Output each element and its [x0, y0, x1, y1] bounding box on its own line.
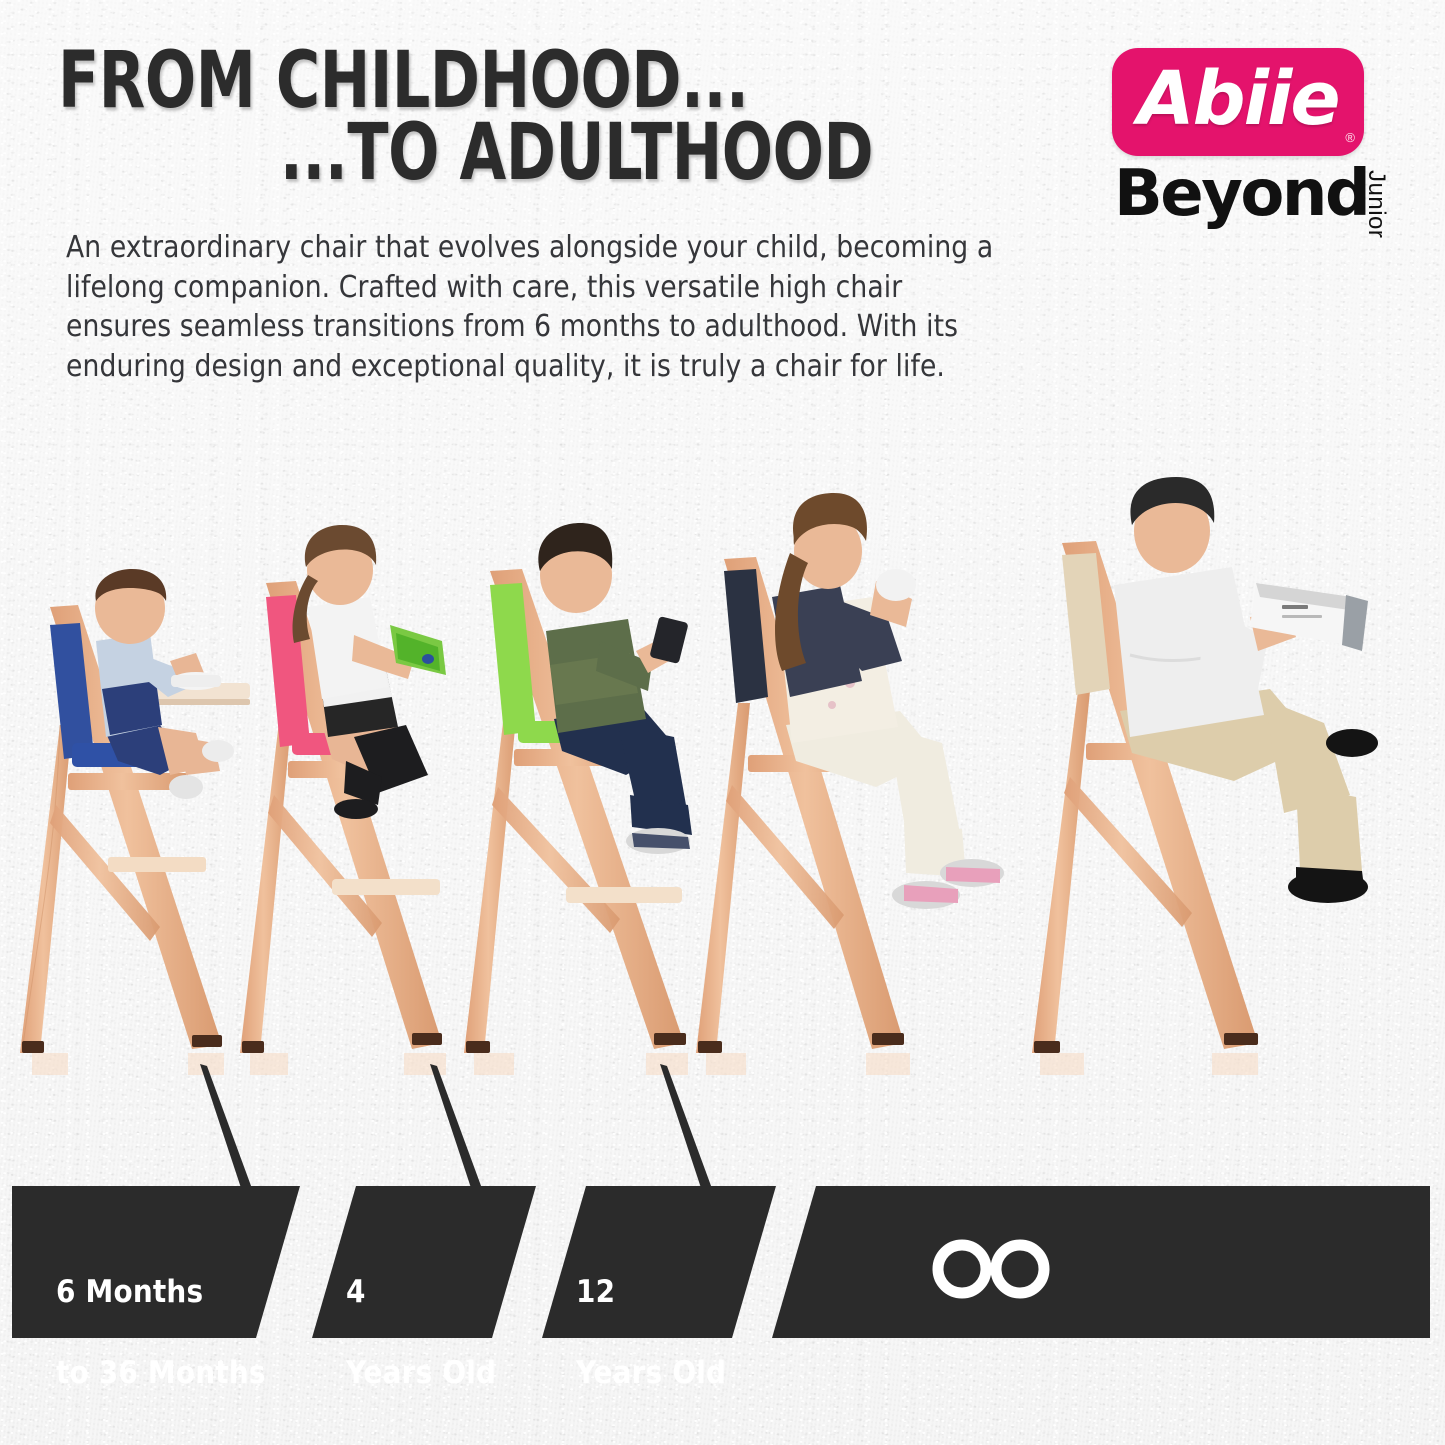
- brand-logo-pill: Abiie ®: [1112, 48, 1364, 156]
- timeline-connectors: [0, 1060, 1445, 1195]
- brand-name: Abiie: [1137, 62, 1338, 136]
- infinity-icon: [928, 1238, 1060, 1300]
- stage-figure-man: [1020, 475, 1440, 1075]
- connector-wedge-3: [660, 1064, 714, 1194]
- headline-line-2: ...TO ADULTHOOD: [58, 118, 841, 190]
- connector-wedge-2: [430, 1064, 484, 1194]
- connector-wedge-1: [200, 1064, 254, 1194]
- man-chair-illustration: [1020, 475, 1440, 1075]
- product-edition: Junior: [1362, 170, 1390, 238]
- timeline-label-girl-line1: 4: [346, 1274, 366, 1310]
- stage-figure-baby: [10, 475, 260, 1075]
- stage-figure-woman: [690, 475, 1030, 1075]
- headline-block: FROM CHILDHOOD... ...TO ADULTHOOD: [58, 46, 968, 190]
- product-name: Beyond: [1114, 162, 1368, 226]
- infographic-poster: FROM CHILDHOOD... ...TO ADULTHOOD An ext…: [0, 0, 1445, 1445]
- chair-progression-stage: [0, 455, 1445, 1075]
- age-timeline-banner: 6 Months to 36 Months 4 Years Old 12 Yea…: [12, 1186, 1430, 1338]
- registered-trademark-icon: ®: [1345, 130, 1355, 145]
- timeline-label-boy-line2: Years Old: [576, 1355, 726, 1391]
- timeline-label-baby-line2: to 36 Months: [56, 1355, 266, 1391]
- intro-paragraph: An extraordinary chair that evolves alon…: [66, 228, 1012, 387]
- timeline-label-girl-line2: Years Old: [346, 1355, 496, 1391]
- timeline-label-baby: 6 Months to 36 Months: [56, 1232, 266, 1393]
- timeline-segment-lifetime[interactable]: [768, 1186, 1430, 1338]
- woman-chair-illustration: [690, 475, 1030, 1075]
- timeline-label-girl: 4 Years Old: [346, 1232, 496, 1393]
- brand-logo: Abiie ® Beyond Junior: [1112, 48, 1412, 236]
- timeline-label-boy-line1: 12: [576, 1274, 615, 1310]
- product-line-row: Beyond Junior: [1112, 162, 1412, 236]
- timeline-label-boy: 12 Years Old: [576, 1232, 726, 1393]
- baby-chair-illustration: [10, 475, 260, 1075]
- timeline-label-baby-line1: 6 Months: [56, 1274, 203, 1310]
